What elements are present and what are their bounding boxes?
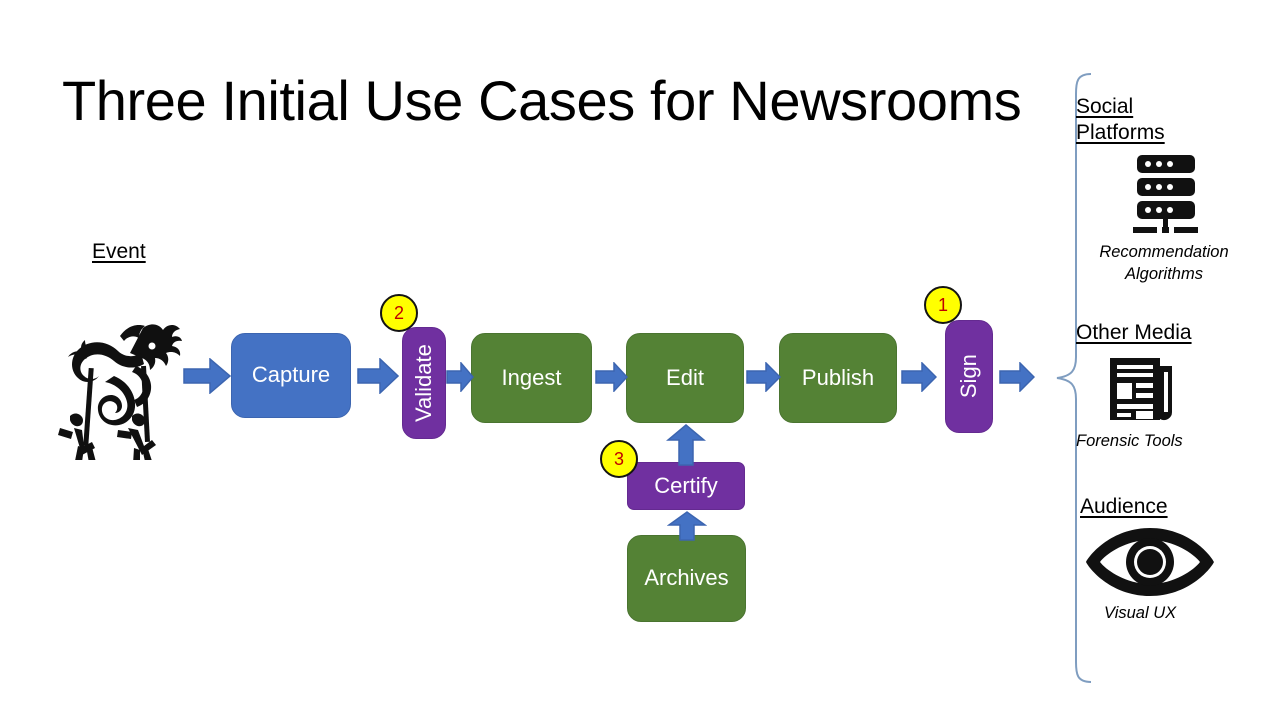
badge-1-number: 1 [938,295,948,316]
badge-3[interactable]: 3 [600,440,638,478]
output-group-audience: Audience Visual UX [1076,494,1266,625]
node-validate[interactable]: Validate [402,327,446,439]
node-archives[interactable]: Archives [627,535,746,622]
output-group-social-caption: Recommendation Algorithms [1066,241,1262,287]
node-certify[interactable]: Certify [627,462,745,510]
arrow-sign-to-outputs-icon [999,362,1035,392]
newspaper-icon [1108,352,1266,426]
badge-2-number: 2 [394,303,404,324]
arrow-certify-to-edit-icon [666,424,706,466]
arrow-capture-to-validate-icon [357,358,399,394]
node-ingest-label: Ingest [502,366,562,390]
badge-3-number: 3 [614,449,624,470]
node-certify-label: Certify [654,474,718,498]
output-group-social-heading: Social Platforms [1076,94,1168,147]
node-capture-label: Capture [252,363,330,387]
node-sign[interactable]: Sign [945,320,993,433]
output-group-media-heading: Other Media [1076,320,1204,346]
node-sign-label: Sign [957,354,981,398]
arrow-ingest-to-edit-icon [595,362,628,392]
page-title: Three Initial Use Cases for Newsrooms [62,68,1021,133]
badge-1[interactable]: 1 [924,286,962,324]
node-validate-label: Validate [412,344,436,422]
arrow-validate-to-ingest-icon [446,362,474,392]
output-group-audience-heading: Audience [1080,494,1175,520]
output-group-media-caption: Forensic Tools [1076,430,1266,453]
badge-2[interactable]: 2 [380,294,418,332]
node-edit[interactable]: Edit [626,333,744,423]
node-capture[interactable]: Capture [231,333,351,418]
dragon-dance-icon [48,310,188,460]
output-group-audience-caption: Visual UX [1104,602,1266,625]
output-group-media: Other Media Forensic Tools [1076,320,1266,453]
output-group-social: Social Platforms Recommendation Algorith… [1076,94,1266,286]
event-label: Event [92,240,146,264]
arrow-archives-to-certify-icon [667,511,707,541]
node-publish[interactable]: Publish [779,333,897,423]
arrow-event-to-capture-icon [183,358,231,394]
node-edit-label: Edit [666,366,704,390]
node-ingest[interactable]: Ingest [471,333,592,423]
arrow-edit-to-publish-icon [746,362,781,392]
server-rack-icon [1066,153,1266,237]
node-archives-label: Archives [644,566,728,590]
node-publish-label: Publish [802,366,874,390]
arrow-publish-to-sign-icon [901,362,937,392]
eye-icon [1084,524,1266,600]
